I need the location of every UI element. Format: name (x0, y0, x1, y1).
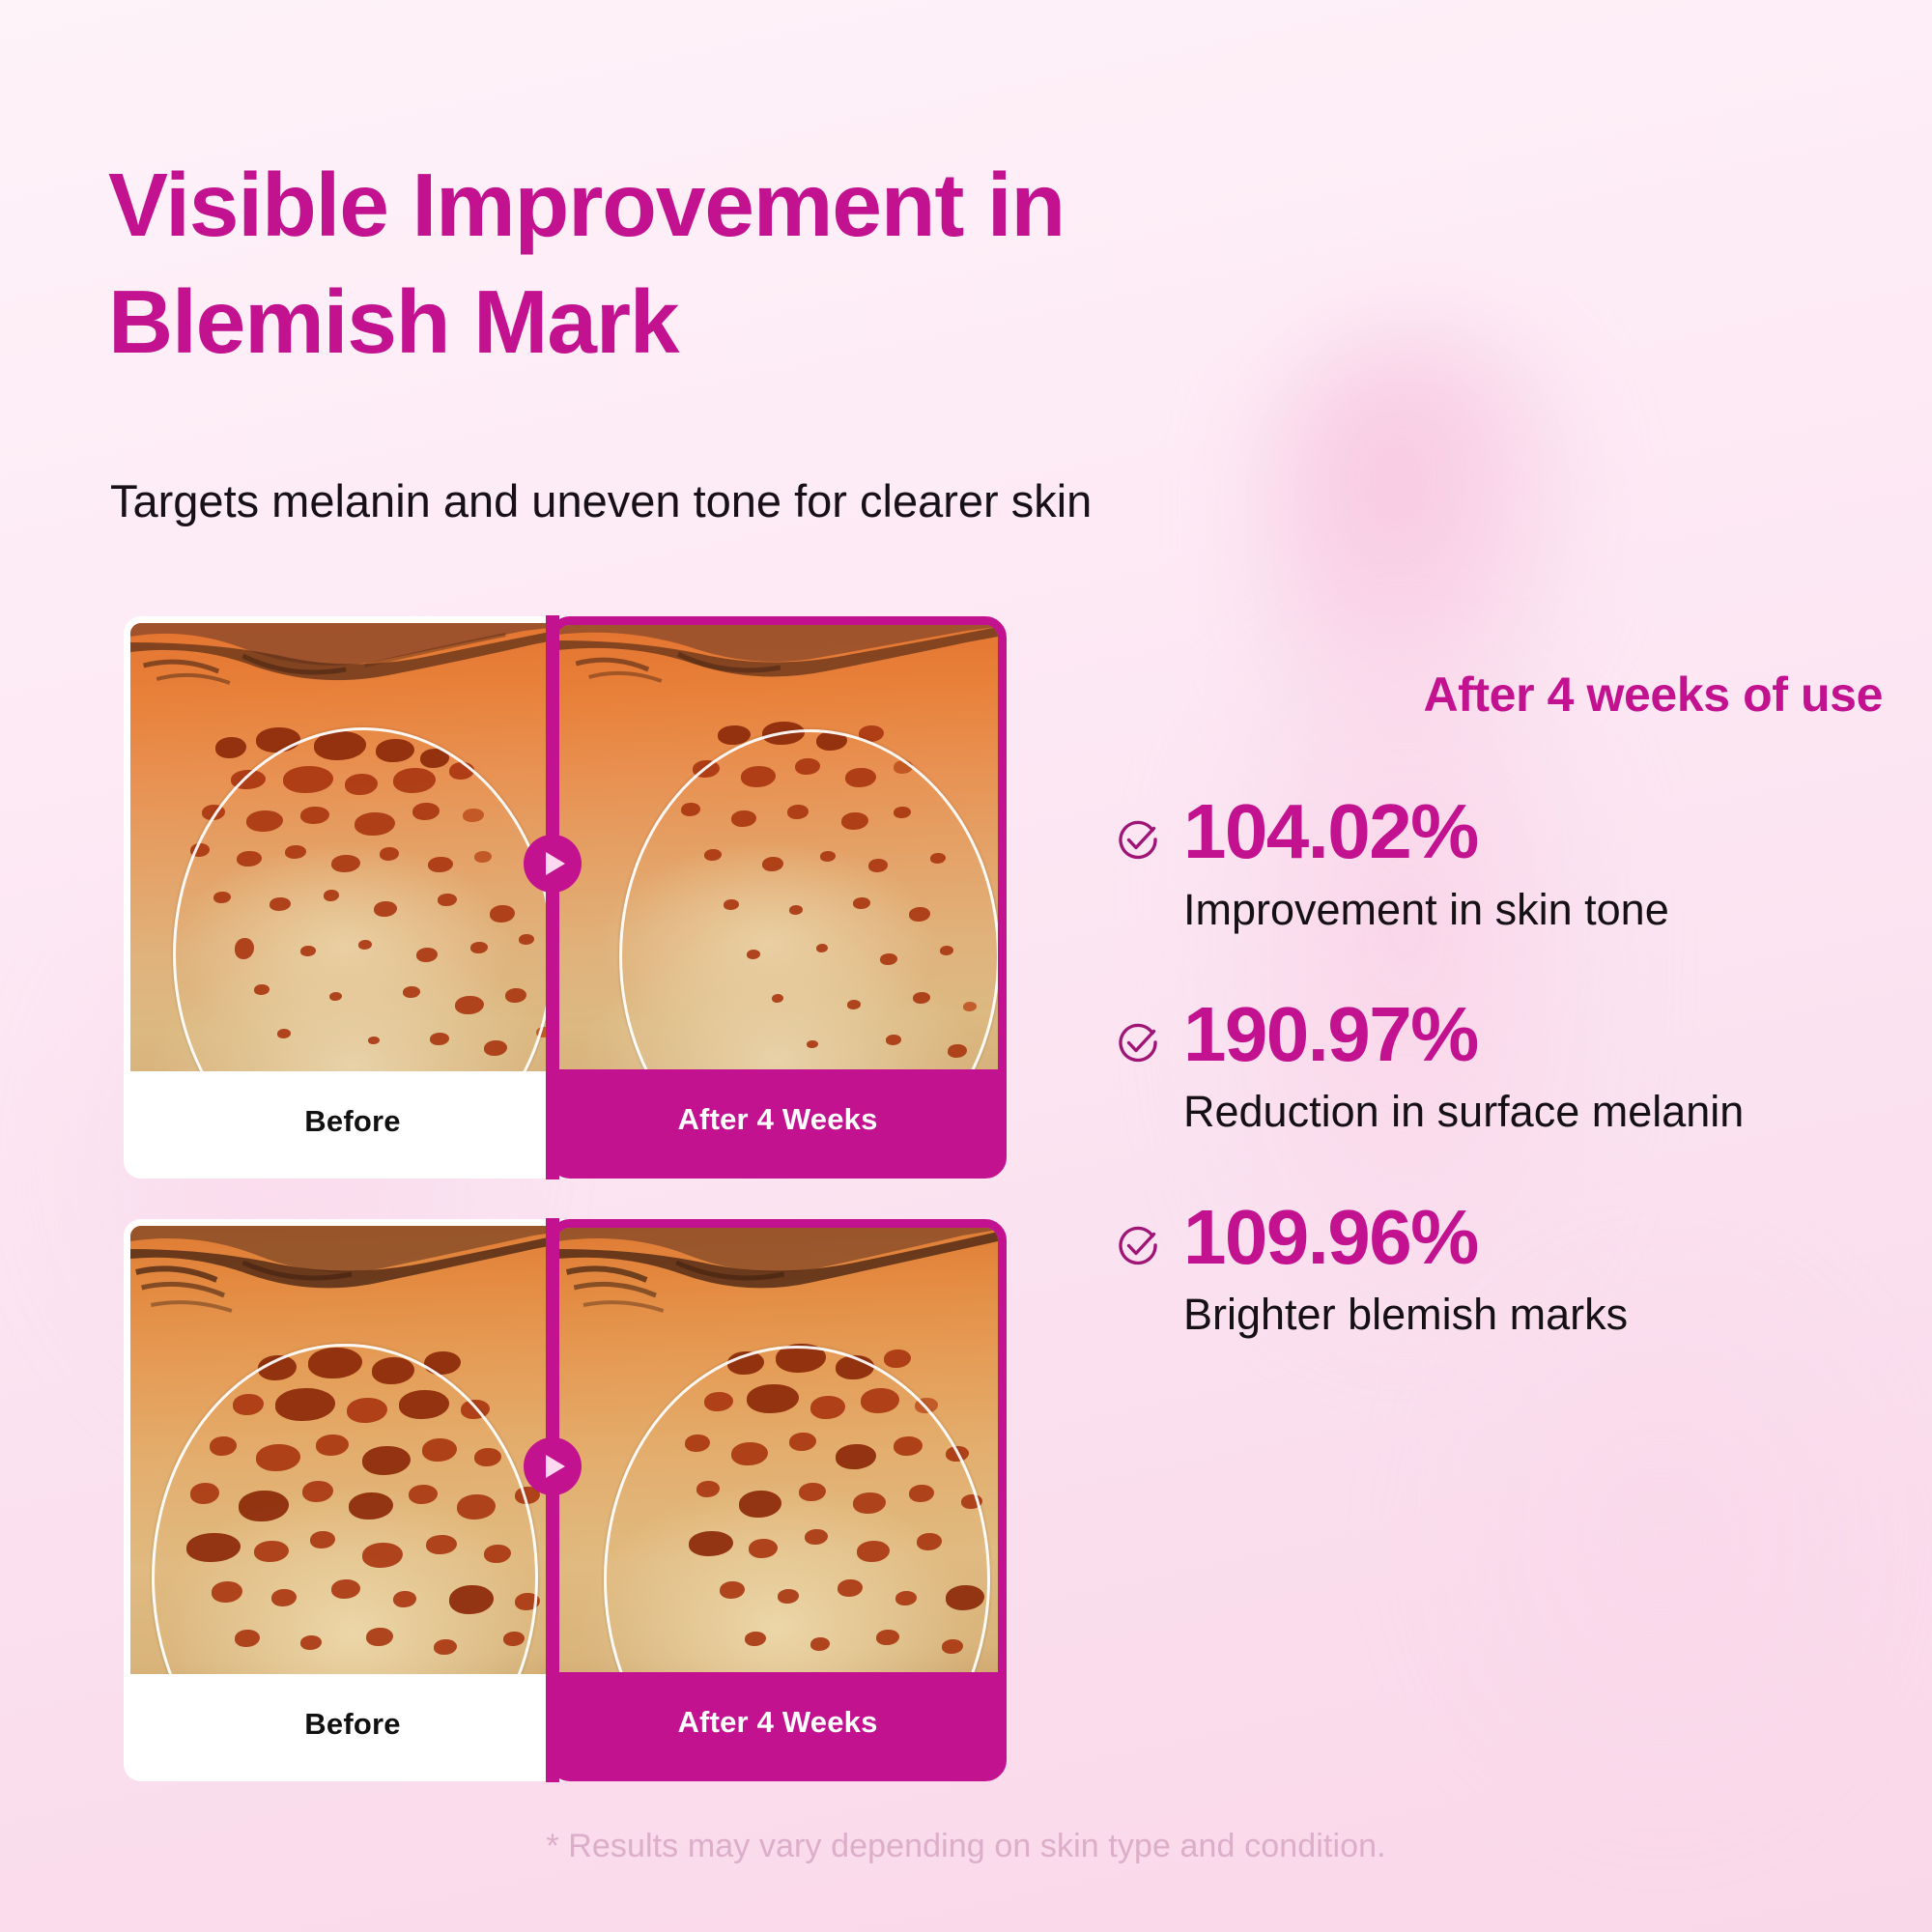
before-card-2: Before (124, 1219, 582, 1781)
after-photo-1 (557, 625, 998, 1079)
skin-texture (557, 625, 998, 1079)
disclaimer-text: * Results may vary depending on skin typ… (0, 1828, 1932, 1865)
after-caption-2: After 4 Weeks (557, 1672, 998, 1773)
before-photo-1 (130, 623, 575, 1085)
result-value: 104.02% (1183, 792, 1889, 871)
comparison-divider-1 (546, 615, 559, 1179)
results-heading: After 4 weeks of use (1116, 667, 1889, 723)
result-value: 190.97% (1183, 995, 1889, 1074)
before-photo-2 (130, 1226, 575, 1688)
before-caption-2: Before (130, 1674, 575, 1775)
page-title: Visible Improvement in Blemish Mark (108, 147, 1190, 381)
check-circle-icon (1116, 817, 1160, 862)
skin-texture (557, 1228, 998, 1682)
comparison-divider-2 (546, 1218, 559, 1782)
result-item: 109.96% Brighter blemish marks (1116, 1198, 1889, 1345)
result-label: Brighter blemish marks (1183, 1286, 1782, 1344)
result-value: 109.96% (1183, 1198, 1889, 1277)
check-circle-icon (1116, 1223, 1160, 1267)
check-circle-icon (1116, 1020, 1160, 1065)
before-card-1: Before (124, 616, 582, 1179)
play-arrow-icon[interactable] (524, 835, 582, 893)
skin-texture (130, 623, 575, 1085)
before-caption-1: Before (130, 1071, 575, 1172)
after-caption-1: After 4 Weeks (557, 1069, 998, 1170)
after-card-2: After 4 Weeks (549, 1219, 1007, 1781)
result-item: 190.97% Reduction in surface melanin (1116, 995, 1889, 1142)
before-after-comparison-1: Before (124, 616, 1022, 1179)
result-item: 104.02% Improvement in skin tone (1116, 792, 1889, 939)
promo-graphic: Visible Improvement in Blemish Mark Targ… (0, 0, 1932, 1932)
results-panel: After 4 weeks of use 104.02% Improvement… (1116, 667, 1889, 1345)
before-after-comparison-2: Before (124, 1219, 1022, 1781)
result-label: Reduction in surface melanin (1183, 1083, 1782, 1141)
after-card-1: After 4 Weeks (549, 616, 1007, 1179)
play-arrow-icon[interactable] (524, 1437, 582, 1495)
result-label: Improvement in skin tone (1183, 881, 1782, 939)
page-subtitle: Targets melanin and uneven tone for clea… (110, 473, 1269, 530)
after-photo-2 (557, 1228, 998, 1682)
skin-texture (130, 1226, 575, 1688)
